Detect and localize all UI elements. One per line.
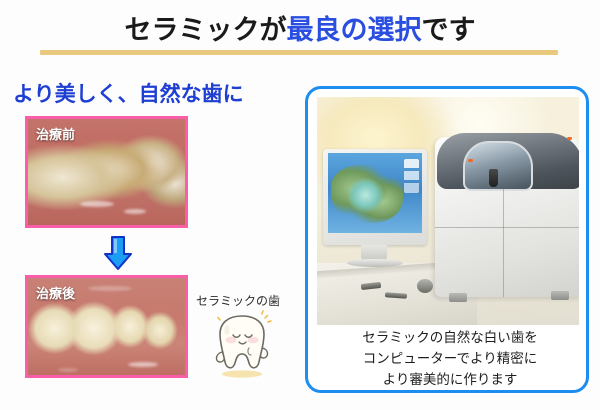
page-title: セラミックが最良の選択です: [0, 8, 600, 47]
milling-drill-bit: [489, 169, 498, 187]
machine-indicator-led: [468, 159, 473, 162]
machine-foot-left: [449, 293, 467, 302]
monitor-base: [347, 259, 403, 267]
before-photo-label: 治療前: [36, 124, 75, 143]
milling-chamber-window: [463, 141, 533, 191]
caption-line-2: コンピューターでより精密に: [308, 348, 589, 369]
title-text-part1: セラミックが: [125, 15, 287, 45]
machine-foot-right: [551, 291, 569, 300]
desktop-icons: [404, 159, 419, 193]
title-text-part2: です: [422, 15, 476, 45]
machine-seam-vertical: [503, 189, 504, 297]
subtitle: より美しく、自然な歯に: [13, 78, 244, 108]
monitor-screen: [328, 153, 422, 233]
machine-seam: [435, 227, 579, 228]
mascot-caption: セラミックの歯: [196, 292, 280, 309]
cadcam-machine-photo: [317, 97, 579, 325]
after-treatment-photo: 治療後: [25, 275, 188, 378]
cadcam-info-panel: セラミックの自然な白い歯を コンピューターでより精密に より審美的に作ります: [305, 86, 589, 393]
caption-line-1: セラミックの自然な白い歯を: [308, 327, 589, 348]
title-highlight: 最良の選択: [287, 15, 422, 45]
dental-tool-3: [417, 279, 433, 293]
tooth-3d-model: [331, 165, 403, 223]
after-photo-label: 治療後: [36, 283, 75, 302]
arrow-down-icon: [103, 236, 133, 271]
caption-line-3: より審美的に作ります: [308, 369, 589, 390]
before-treatment-photo: 治療前: [25, 116, 188, 228]
tooth-mascot-icon: [208, 308, 276, 380]
machine-indicator-led-2: [567, 137, 572, 140]
title-underline-divider: [40, 50, 558, 55]
panel-caption: セラミックの自然な白い歯を コンピューターでより精密に より審美的に作ります: [308, 327, 589, 390]
